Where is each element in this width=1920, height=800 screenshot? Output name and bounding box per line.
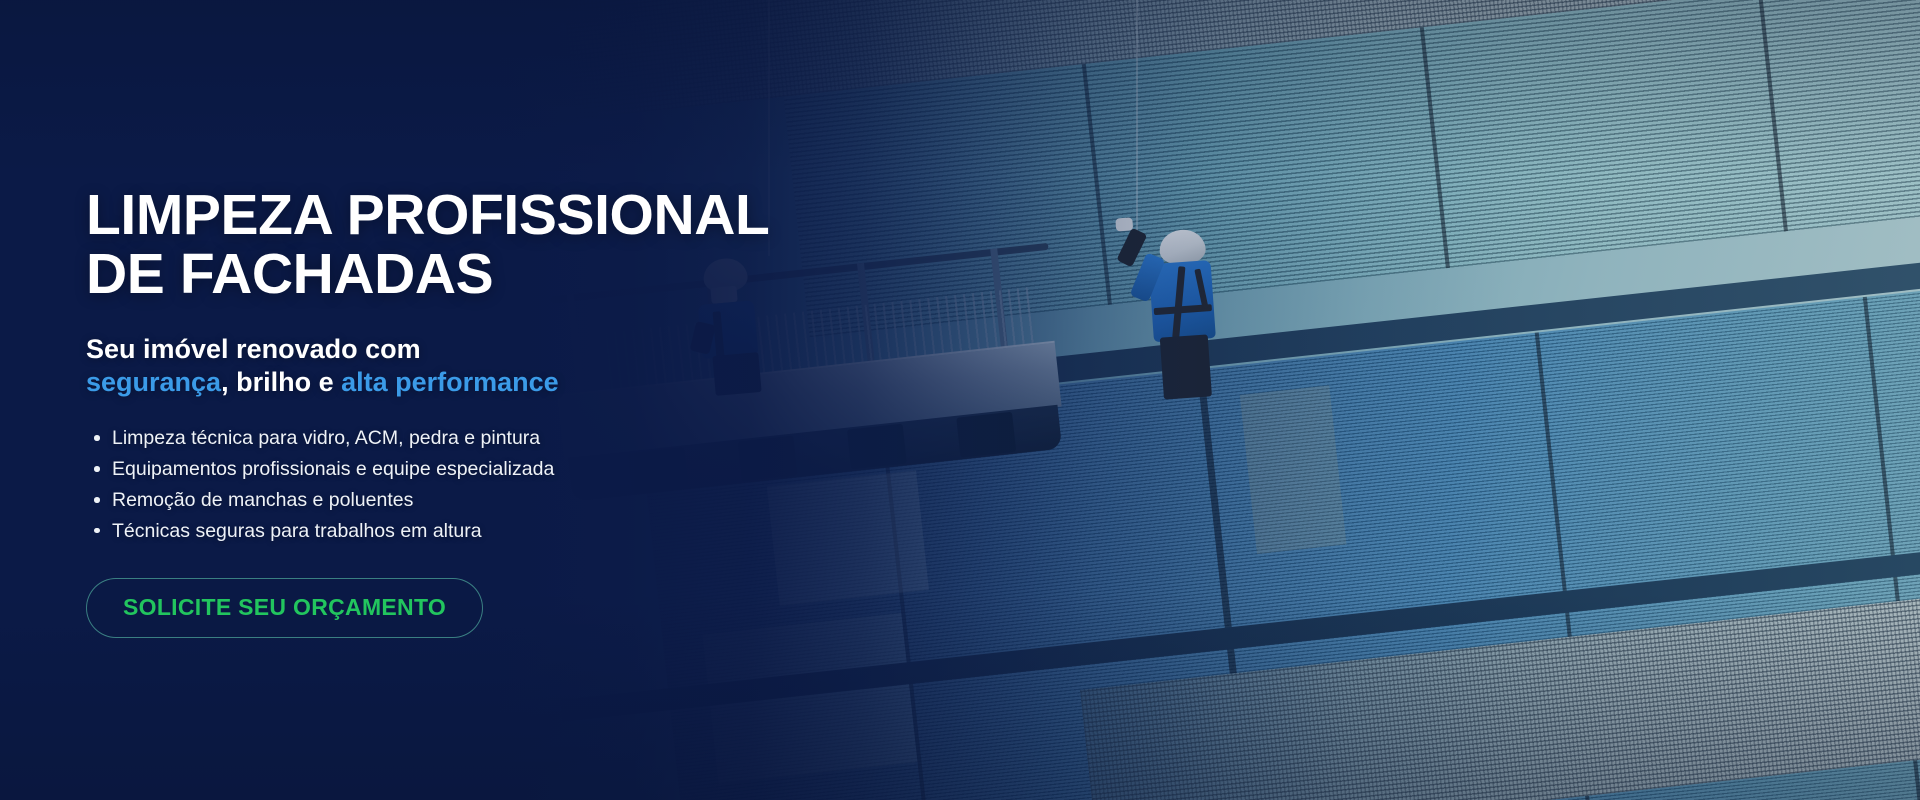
hero-banner: LIMPEZA PROFISSIONAL DE FACHADAS Seu imó… — [0, 0, 1920, 800]
hero-content: LIMPEZA PROFISSIONAL DE FACHADAS Seu imó… — [86, 186, 866, 638]
request-quote-button[interactable]: SOLICITE SEU ORÇAMENTO — [86, 578, 483, 638]
list-item: Técnicas seguras para trabalhos em altur… — [86, 520, 866, 543]
subheadline-accent-performance: alta performance — [341, 367, 559, 397]
list-item: Limpeza técnica para vidro, ACM, pedra e… — [86, 427, 866, 450]
subheadline-accent-seguranca: segurança — [86, 367, 221, 397]
list-item: Remoção de manchas e poluentes — [86, 489, 866, 512]
subheadline-middle: , brilho e — [221, 367, 341, 397]
page-title: LIMPEZA PROFISSIONAL DE FACHADAS — [86, 186, 866, 303]
subheadline-line-2: segurança, brilho e alta performance — [86, 366, 866, 399]
hero-subheadline: Seu imóvel renovado com segurança, brilh… — [86, 333, 866, 399]
feature-list: Limpeza técnica para vidro, ACM, pedra e… — [86, 427, 866, 543]
list-item: Equipamentos profissionais e equipe espe… — [86, 458, 866, 481]
subheadline-line-1: Seu imóvel renovado com — [86, 333, 866, 366]
